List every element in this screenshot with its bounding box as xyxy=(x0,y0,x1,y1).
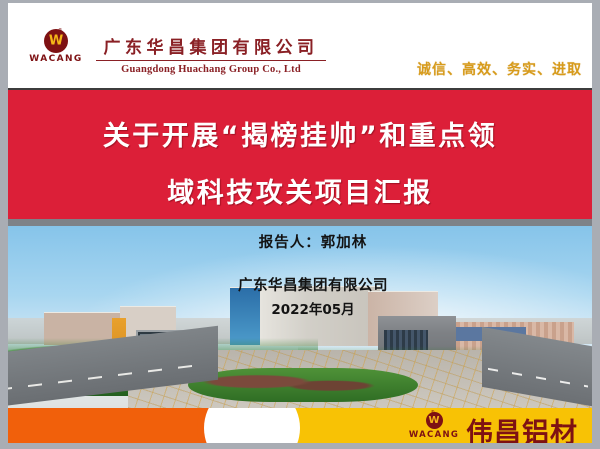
presenter-name: 报告人：郭加林 xyxy=(178,231,448,252)
wacang-w-glyph: W xyxy=(49,35,63,48)
presenter-organization: 广东华昌集团有限公司 xyxy=(178,274,448,295)
footer-brand-name: 伟昌铝材 xyxy=(466,411,578,443)
presentation-date: 2022年05月 xyxy=(178,298,448,318)
band-divider xyxy=(8,219,592,226)
footer-wacang-wordmark: WACANG xyxy=(402,430,466,440)
ribbon-white-swoosh xyxy=(204,408,300,443)
slide-title-line-1: 关于开展“揭榜挂帅”和重点领 xyxy=(8,114,592,153)
wacang-logo: W ® WACANG xyxy=(25,29,87,71)
footer-wacang-logo: W ® WACANG xyxy=(402,412,466,440)
footer-ribbon: W ® WACANG 伟昌铝材 xyxy=(8,408,592,443)
company-name-block: 广东华昌集团有限公司 Guangdong Huachang Group Co.,… xyxy=(96,33,326,75)
slide-header: W ® WACANG 广东华昌集团有限公司 Guangdong Huachang… xyxy=(8,3,592,88)
footer-registered-trademark-icon: ® xyxy=(431,410,435,416)
presenter-info: 报告人：郭加林 广东华昌集团有限公司 2022年05月 xyxy=(178,231,448,318)
slide-title-line-2: 域科技攻关项目汇报 xyxy=(8,171,592,210)
slide-frame: W ® WACANG 广东华昌集团有限公司 Guangdong Huachang… xyxy=(0,0,600,449)
registered-trademark-icon: ® xyxy=(58,28,62,34)
landscaped-garden-mound xyxy=(188,368,418,402)
company-name-chinese: 广东华昌集团有限公司 xyxy=(96,33,326,61)
wacang-badge-icon: W ® xyxy=(44,29,68,53)
presentation-slide: W ® WACANG 广东华昌集团有限公司 Guangdong Huachang… xyxy=(8,3,592,443)
wacang-wordmark: WACANG xyxy=(25,54,87,64)
footer-wacang-w-glyph: W xyxy=(428,416,439,426)
company-name-english: Guangdong Huachang Group Co., Ltd xyxy=(96,64,326,75)
title-band: 关于开展“揭榜挂帅”和重点领 域科技攻关项目汇报 xyxy=(8,88,592,219)
corporate-tagline: 诚信、高效、务实、进取 xyxy=(417,59,582,79)
footer-wacang-badge-icon: W ® xyxy=(426,412,443,429)
factory-campus-photo: 报告人：郭加林 广东华昌集团有限公司 2022年05月 xyxy=(8,226,592,408)
